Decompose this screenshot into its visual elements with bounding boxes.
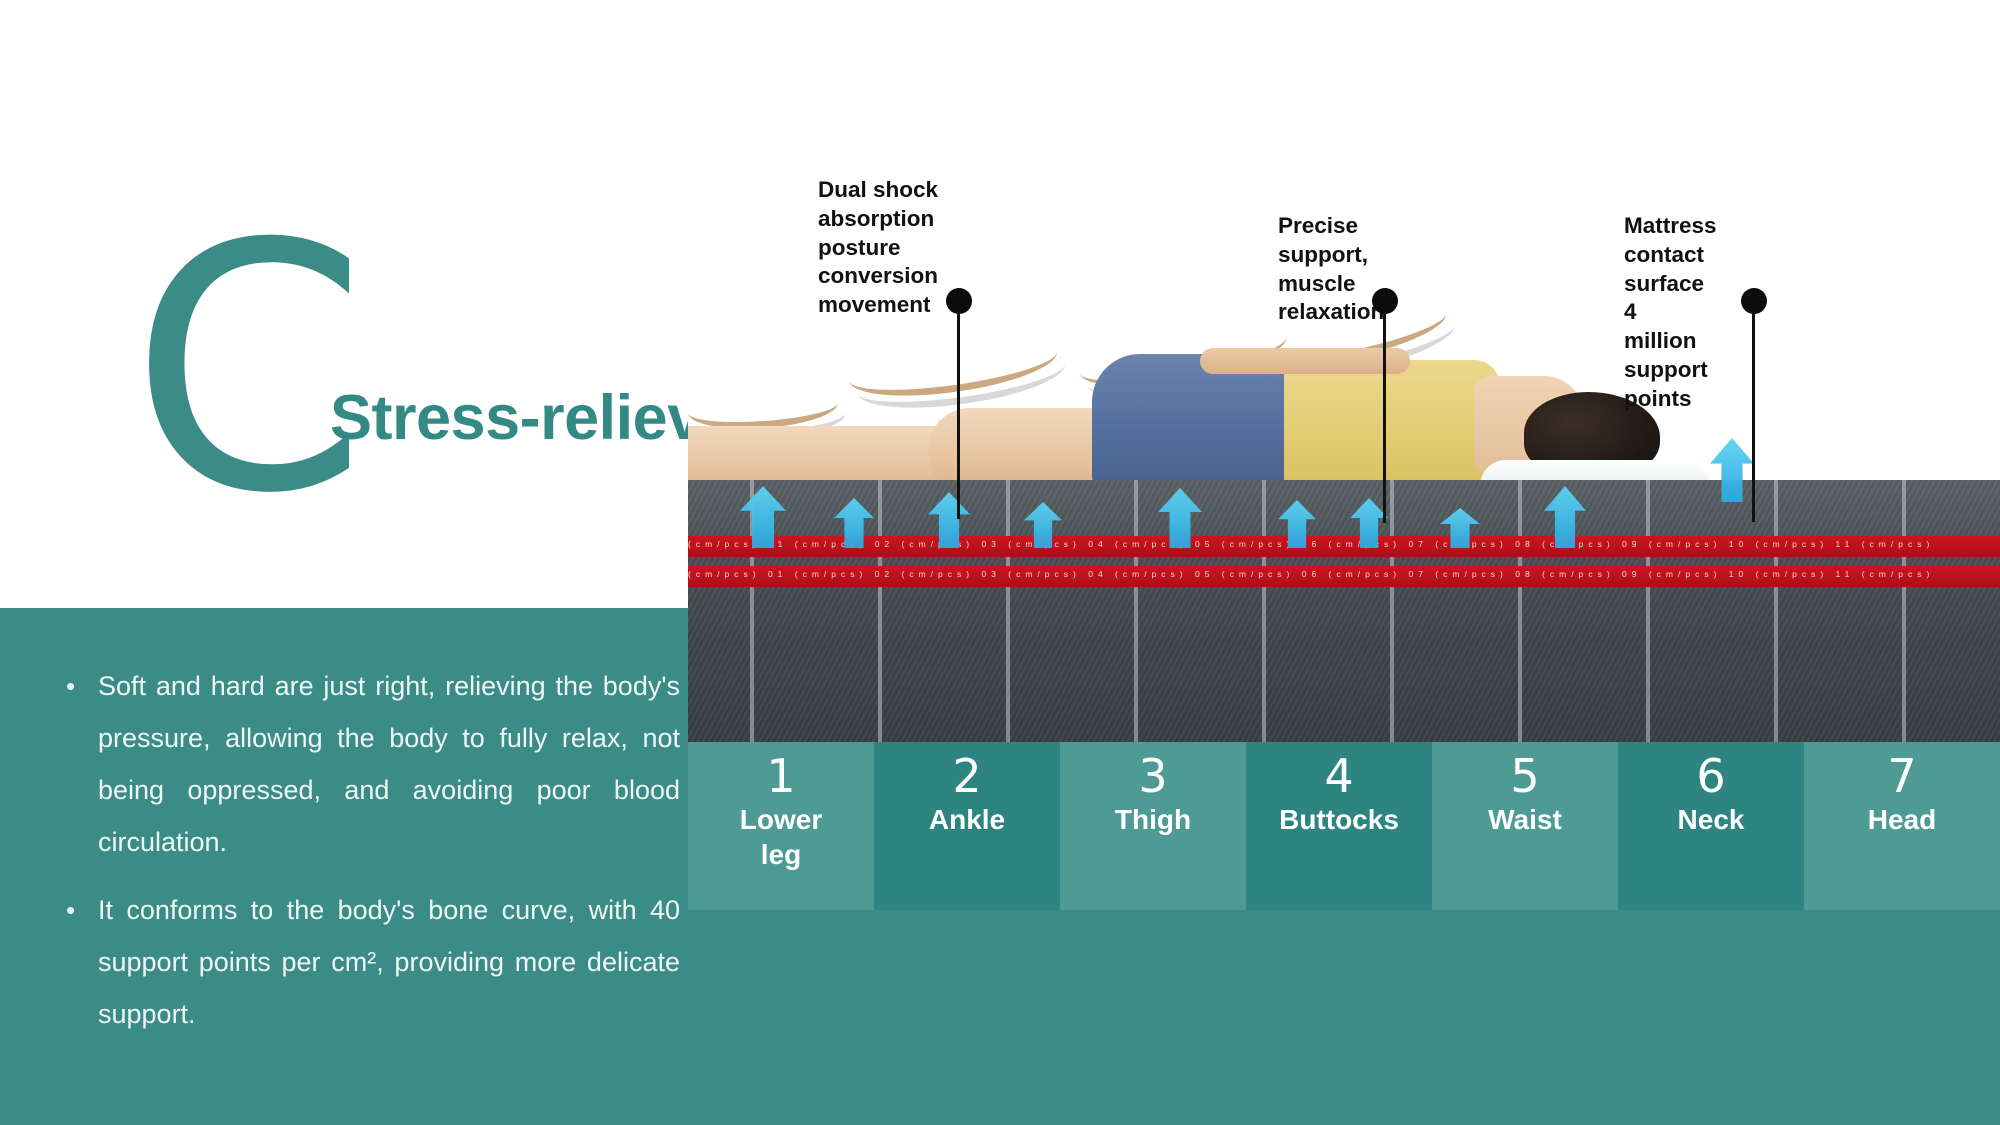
body-zone-buttocks[interactable]: 4Buttocks xyxy=(1246,742,1432,910)
feature-bullet: •Soft and hard are just right, relieving… xyxy=(60,660,680,868)
zone-label: Waist xyxy=(1488,802,1562,837)
zone-number: 7 xyxy=(1887,752,1916,800)
mattress-photo: (cm/pcs) 01 (cm/pcs) 02 (cm/pcs) 03 (cm/… xyxy=(688,300,2000,742)
zone-number: 5 xyxy=(1510,752,1539,800)
bullet-marker-icon: • xyxy=(60,884,98,1040)
callout-label: Dual shock absorption posture conversion… xyxy=(818,176,938,320)
body-shorts xyxy=(1092,354,1298,494)
zone-number: 3 xyxy=(1138,752,1167,800)
body-zone-thigh[interactable]: 3Thigh xyxy=(1060,742,1246,910)
zone-number: 1 xyxy=(766,752,795,800)
body-zone-neck[interactable]: 6Neck xyxy=(1618,742,1804,910)
zone-label: Lower leg xyxy=(740,802,822,872)
zone-label: Thigh xyxy=(1115,802,1191,837)
mattress-label-band: (cm/pcs) 01 (cm/pcs) 02 (cm/pcs) 03 (cm/… xyxy=(688,566,2000,587)
zone-label: Buttocks xyxy=(1279,802,1399,837)
callout-label: Mattress contact surface 4 million suppo… xyxy=(1624,212,1717,414)
callout-leader-line xyxy=(1383,312,1386,523)
zone-label: Neck xyxy=(1678,802,1745,837)
feature-bullet-list: •Soft and hard are just right, relieving… xyxy=(60,660,680,1056)
body-arm xyxy=(1200,348,1410,374)
bullet-text: It conforms to the body's bone curve, wi… xyxy=(98,884,680,1040)
zone-number: 2 xyxy=(952,752,981,800)
zone-label: Ankle xyxy=(929,802,1005,837)
zone-label: Head xyxy=(1868,802,1936,837)
mattress-label-band: (cm/pcs) 01 (cm/pcs) 02 (cm/pcs) 03 (cm/… xyxy=(688,536,2000,557)
callout-dot-icon xyxy=(1741,288,1767,314)
mattress-body: (cm/pcs) 01 (cm/pcs) 02 (cm/pcs) 03 (cm/… xyxy=(688,480,2000,742)
body-zone-ankle[interactable]: 2Ankle xyxy=(874,742,1060,910)
body-zone-strip: 1Lower leg2Ankle3Thigh4Buttocks5Waist6Ne… xyxy=(688,742,2000,910)
mattress-band-text: (cm/pcs) 01 (cm/pcs) 02 (cm/pcs) 03 (cm/… xyxy=(688,539,2000,549)
body-top xyxy=(1284,360,1500,494)
body-zone-waist[interactable]: 5Waist xyxy=(1432,742,1618,910)
callout-leader-line xyxy=(957,312,960,519)
zone-number: 4 xyxy=(1324,752,1353,800)
bullet-marker-icon: • xyxy=(60,660,98,868)
callout-leader-line xyxy=(1752,312,1755,522)
slide-root: C Stress-relieving (cm/pcs) 01 (cm/pcs) … xyxy=(0,0,2000,1125)
body-zone-lower-leg[interactable]: 1Lower leg xyxy=(688,742,874,910)
brand-monogram-c: C xyxy=(130,245,320,495)
callout-dot-icon xyxy=(1372,288,1398,314)
zone-number: 6 xyxy=(1696,752,1725,800)
bullet-text: Soft and hard are just right, relieving … xyxy=(98,660,680,868)
body-zone-head[interactable]: 7Head xyxy=(1804,742,2000,910)
feature-bullet: •It conforms to the body's bone curve, w… xyxy=(60,884,680,1040)
callout-label: Precise support, muscle relaxation xyxy=(1278,212,1384,327)
mattress-band-text: (cm/pcs) 01 (cm/pcs) 02 (cm/pcs) 03 (cm/… xyxy=(688,569,2000,579)
callout-dot-icon xyxy=(946,288,972,314)
